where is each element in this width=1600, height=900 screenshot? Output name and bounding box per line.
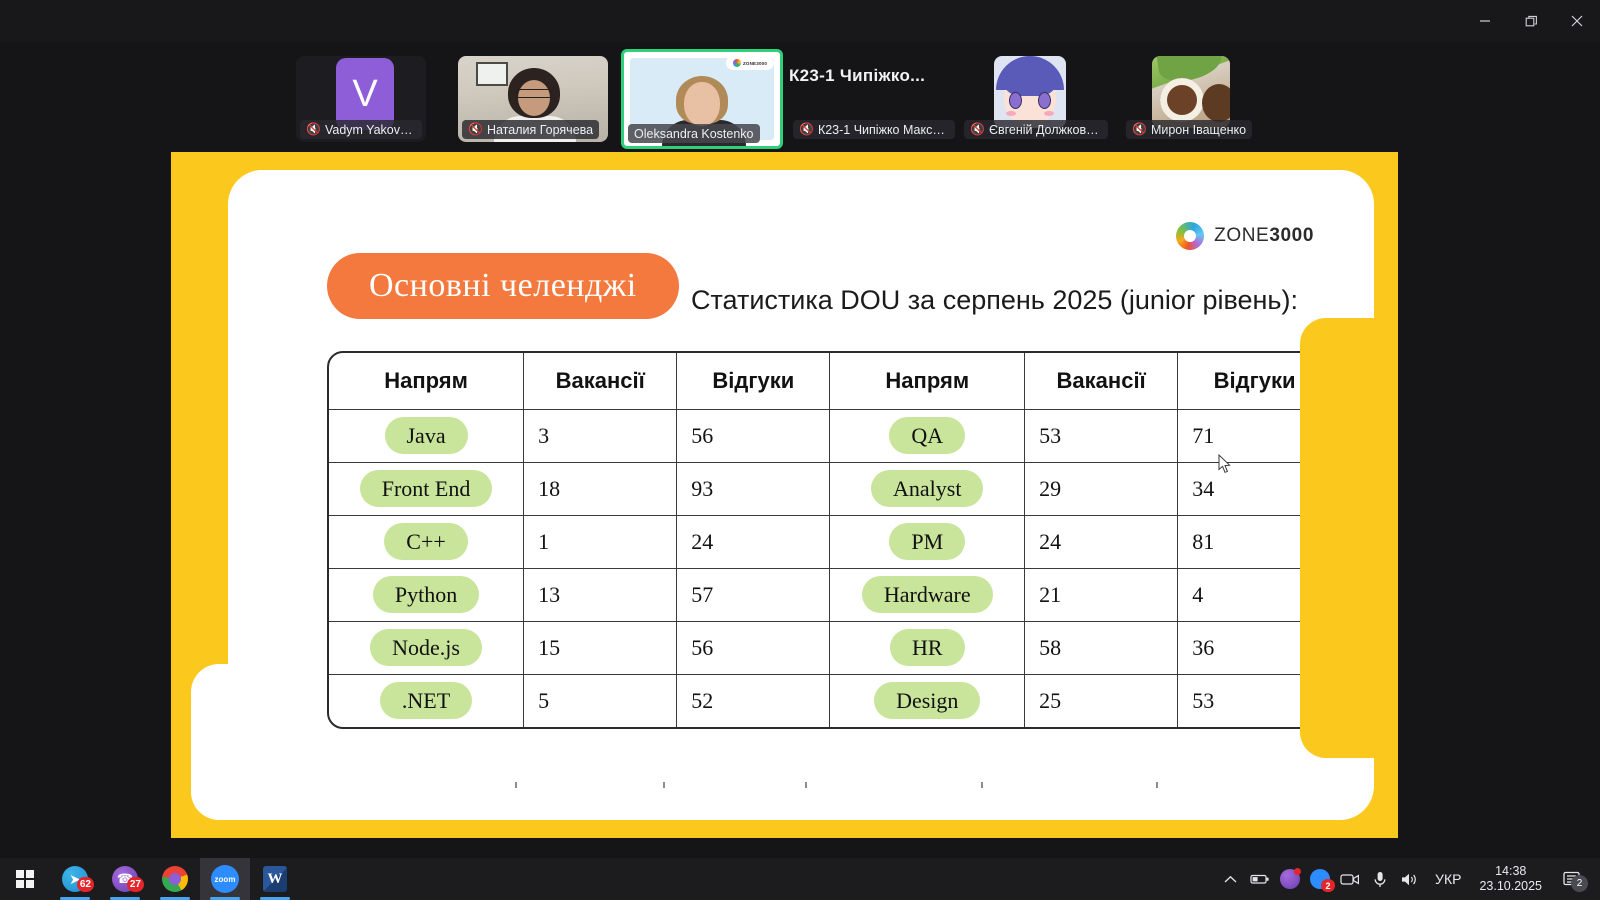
zone3000-logo-chip: ZONE3000 xyxy=(726,56,774,70)
participant-display-name: К23-1 Чипіжко... xyxy=(789,66,959,86)
zone3000-logo: ZONE3000 xyxy=(1176,222,1314,250)
cell-vacancies-right: 58 xyxy=(1025,621,1178,674)
participant-name: Наталия Горячева xyxy=(487,123,593,137)
coconut-photo xyxy=(1152,56,1230,128)
zone3000-ring-icon xyxy=(733,59,741,67)
tray-viber-icon[interactable] xyxy=(1275,858,1305,900)
participant-name: К23-1 Чипіжко Макси... xyxy=(818,123,949,137)
participant-tile-vadym-yakovenko[interactable]: V 🔇 Vadym Yakovenko xyxy=(296,56,426,142)
anime-eye-right xyxy=(1038,92,1051,109)
word-icon: W xyxy=(263,866,287,892)
column-header-vidhuky-1: Відгуки xyxy=(677,353,830,409)
tick-mark xyxy=(663,782,665,788)
cell-direction-left: .NET xyxy=(329,674,524,727)
direction-pill: C++ xyxy=(384,523,468,560)
notification-center-button[interactable]: 2 xyxy=(1550,858,1594,900)
wall-picture xyxy=(476,62,508,86)
column-header-napryam-1: Напрям xyxy=(329,353,524,409)
cell-reviews-left: 24 xyxy=(677,515,830,568)
table-column-tick-marks xyxy=(228,782,1374,792)
participant-tile-nataliia-goriacheva[interactable]: 🔇 Наталия Горячева xyxy=(458,56,608,142)
cell-direction-right: HR xyxy=(830,621,1025,674)
coconut-half xyxy=(1160,78,1204,122)
taskbar-app-word[interactable]: W xyxy=(250,858,300,900)
cell-reviews-left: 93 xyxy=(677,462,830,515)
cell-reviews-left: 56 xyxy=(677,621,830,674)
participant-namebar: 🔇 Мирон Іващенко xyxy=(1126,120,1252,139)
minimize-button[interactable] xyxy=(1462,0,1508,42)
battery-mouse-icon[interactable] xyxy=(1245,858,1275,900)
cell-vacancies-left: 15 xyxy=(524,621,677,674)
taskbar-app-zoom[interactable]: zoom xyxy=(200,858,250,900)
participant-namebar: 🔇 К23-1 Чипіжко Макси... xyxy=(793,120,955,139)
statistics-table: Напрям Вакансії Відгуки Напрям Вакансії … xyxy=(327,351,1333,729)
table-row: C++ 1 24 PM 24 81 xyxy=(329,515,1331,568)
participant-tile-oleksandra-kostenko-active[interactable]: ZONE3000 Oleksandra Kostenko xyxy=(621,49,783,149)
cell-vacancies-right: 21 xyxy=(1025,568,1178,621)
viber-unread-badge: 27 xyxy=(127,877,144,892)
anime-hair xyxy=(996,56,1064,90)
desktop: V 🔇 Vadym Yakovenko 🔇 Наталия Горячева Z… xyxy=(0,0,1600,900)
zone3000-logo-text: ZONE3000 xyxy=(743,61,767,66)
table-row: Java 3 56 QA 53 71 xyxy=(329,409,1331,462)
cell-direction-right: PM xyxy=(830,515,1025,568)
table-header-row: Напрям Вакансії Відгуки Напрям Вакансії … xyxy=(329,353,1331,409)
taskbar-app-telegram[interactable]: ➤ 62 xyxy=(50,858,100,900)
person-face xyxy=(684,82,720,126)
zone3000-wordmark: ZONE3000 xyxy=(1214,225,1314,247)
show-hidden-icons-button[interactable] xyxy=(1215,858,1245,900)
direction-pill: Python xyxy=(373,576,479,613)
cell-direction-right: Hardware xyxy=(830,568,1025,621)
microphone-icon[interactable] xyxy=(1365,858,1395,900)
cell-vacancies-right: 24 xyxy=(1025,515,1178,568)
direction-pill: .NET xyxy=(380,682,472,719)
telegram-unread-badge: 62 xyxy=(77,877,94,892)
table-row: .NET 5 52 Design 25 53 xyxy=(329,674,1331,727)
volume-icon[interactable] xyxy=(1395,858,1425,900)
participant-name: Мирон Іващенко xyxy=(1151,123,1246,137)
start-button[interactable] xyxy=(0,858,50,900)
cell-vacancies-left: 1 xyxy=(524,515,677,568)
direction-pill: Node.js xyxy=(370,629,482,666)
cell-direction-left: Node.js xyxy=(329,621,524,674)
table-row: Python 13 57 Hardware 21 4 xyxy=(329,568,1331,621)
anime-eye-left xyxy=(1009,92,1022,109)
participant-name: Євгеній Должковий К... xyxy=(989,123,1102,137)
cell-reviews-left: 52 xyxy=(677,674,830,727)
column-header-napryam-2: Напрям xyxy=(830,353,1025,409)
speaker-icon xyxy=(1401,872,1420,887)
cell-direction-right: QA xyxy=(830,409,1025,462)
cell-direction-left: C++ xyxy=(329,515,524,568)
table-row: Node.js 15 56 HR 58 36 xyxy=(329,621,1331,674)
participant-name: Vadym Yakovenko xyxy=(325,123,416,137)
direction-pill: Design xyxy=(874,682,980,719)
wireless-mouse-battery-icon xyxy=(1250,873,1270,885)
person-face xyxy=(518,80,550,116)
close-button[interactable] xyxy=(1554,0,1600,42)
mic-muted-icon: 🔇 xyxy=(970,122,985,136)
direction-pill: Front End xyxy=(360,470,493,507)
mic-muted-icon: 🔇 xyxy=(799,122,814,136)
mic-muted-icon: 🔇 xyxy=(1132,122,1147,136)
windows-taskbar: ➤ 62 ☎ 27 zoom W xyxy=(0,858,1600,900)
direction-pill: Analyst xyxy=(871,470,983,507)
slide-subtitle: Статистика DOU за серпень 2025 (junior р… xyxy=(691,285,1298,316)
column-header-vakansii-1: Вакансії xyxy=(524,353,677,409)
viber-icon xyxy=(1280,869,1300,889)
participant-namebar: Oleksandra Kostenko xyxy=(628,124,760,143)
windows-logo-icon xyxy=(16,870,34,888)
mouse-cursor xyxy=(1218,454,1232,474)
cell-direction-left: Python xyxy=(329,568,524,621)
direction-pill: PM xyxy=(889,523,965,560)
zoom-window-titlebar xyxy=(0,0,1600,42)
slide-right-notch xyxy=(1300,318,1374,758)
anime-avatar-image xyxy=(994,56,1066,128)
taskbar-app-chrome[interactable] xyxy=(150,858,200,900)
taskbar-app-viber[interactable]: ☎ 27 xyxy=(100,858,150,900)
close-icon xyxy=(1571,15,1583,27)
cell-direction-right: Design xyxy=(830,674,1025,727)
mic-muted-icon: 🔇 xyxy=(306,122,321,136)
direction-pill: HR xyxy=(890,629,965,666)
tick-mark xyxy=(515,782,517,788)
slide-title-badge: Основні челенджі xyxy=(327,253,679,319)
column-header-vakansii-2: Вакансії xyxy=(1025,353,1178,409)
chevron-up-icon xyxy=(1224,875,1237,884)
participant-tile-yevhenii-dolzhkovyi[interactable]: 🔇 Євгеній Должковий К... xyxy=(960,56,1112,142)
participant-namebar: 🔇 Vadym Yakovenko xyxy=(300,120,422,139)
cell-vacancies-left: 13 xyxy=(524,568,677,621)
tick-mark xyxy=(1156,782,1158,788)
zoom-notification-badge: 2 xyxy=(1321,879,1335,892)
cell-vacancies-left: 3 xyxy=(524,409,677,462)
restore-icon xyxy=(1525,15,1538,28)
chrome-icon xyxy=(162,866,188,892)
mic-muted-icon: 🔇 xyxy=(468,122,483,136)
cell-direction-right: Analyst xyxy=(830,462,1025,515)
cell-vacancies-left: 18 xyxy=(524,462,677,515)
cell-vacancies-right: 53 xyxy=(1025,409,1178,462)
cell-direction-left: Java xyxy=(329,409,524,462)
mic-icon xyxy=(1373,871,1387,888)
tick-mark xyxy=(981,782,983,788)
participant-name: Oleksandra Kostenko xyxy=(634,127,754,141)
language-indicator[interactable]: УКР xyxy=(1425,871,1471,887)
camera-toggle-icon[interactable] xyxy=(1335,858,1365,900)
anime-blush-right xyxy=(1044,111,1054,116)
zone3000-word-light: ZONE xyxy=(1214,225,1269,246)
direction-pill: Java xyxy=(385,417,468,454)
taskbar-apps: ➤ 62 ☎ 27 zoom W xyxy=(0,858,300,900)
cell-vacancies-right: 29 xyxy=(1025,462,1178,515)
clock[interactable]: 14:38 23.10.2025 xyxy=(1471,864,1550,894)
participant-namebar: 🔇 Наталия Горячева xyxy=(462,120,599,139)
clock-time: 14:38 xyxy=(1479,864,1542,879)
anime-blush-left xyxy=(1006,111,1016,116)
cell-vacancies-right: 25 xyxy=(1025,674,1178,727)
tick-mark xyxy=(805,782,807,788)
direction-pill: Hardware xyxy=(862,576,993,613)
coconut-whole xyxy=(1202,84,1230,122)
video-camera-icon xyxy=(1340,872,1360,886)
participant-tile-k23-1-chypizhko[interactable]: К23-1 Чипіжко... 🔇 К23-1 Чипіжко Макси..… xyxy=(789,56,959,142)
zone3000-word-bold: 3000 xyxy=(1269,225,1314,246)
table-row: Front End 18 93 Analyst 29 34 xyxy=(329,462,1331,515)
zoom-icon: zoom xyxy=(211,865,239,893)
zone3000-ring-icon xyxy=(1172,218,1207,253)
cell-reviews-left: 57 xyxy=(677,568,830,621)
system-tray: 2 xyxy=(1215,858,1600,900)
cell-direction-left: Front End xyxy=(329,462,524,515)
direction-pill: QA xyxy=(889,417,965,454)
notification-count-badge: 2 xyxy=(1571,875,1588,892)
shared-screen-area: ZONE3000 Основні челенджі Статистика DOU… xyxy=(171,152,1398,838)
cell-reviews-left: 56 xyxy=(677,409,830,462)
participant-tile-myron-ivashchenko[interactable]: 🔇 Мирон Іващенко xyxy=(1122,56,1274,142)
minimize-icon xyxy=(1479,15,1491,27)
tray-zoom-icon[interactable]: 2 xyxy=(1305,858,1335,900)
dou-statistics-table: Напрям Вакансії Відгуки Напрям Вакансії … xyxy=(329,353,1331,727)
clock-date: 23.10.2025 xyxy=(1479,879,1542,894)
zoom-icon: 2 xyxy=(1310,869,1330,889)
participant-namebar: 🔇 Євгеній Должковий К... xyxy=(964,120,1108,139)
cell-vacancies-left: 5 xyxy=(524,674,677,727)
participant-filmstrip: V 🔇 Vadym Yakovenko 🔇 Наталия Горячева Z… xyxy=(0,46,1600,150)
glasses-icon xyxy=(516,89,552,98)
restore-button[interactable] xyxy=(1508,0,1554,42)
slide-card: ZONE3000 Основні челенджі Статистика DOU… xyxy=(228,170,1374,820)
